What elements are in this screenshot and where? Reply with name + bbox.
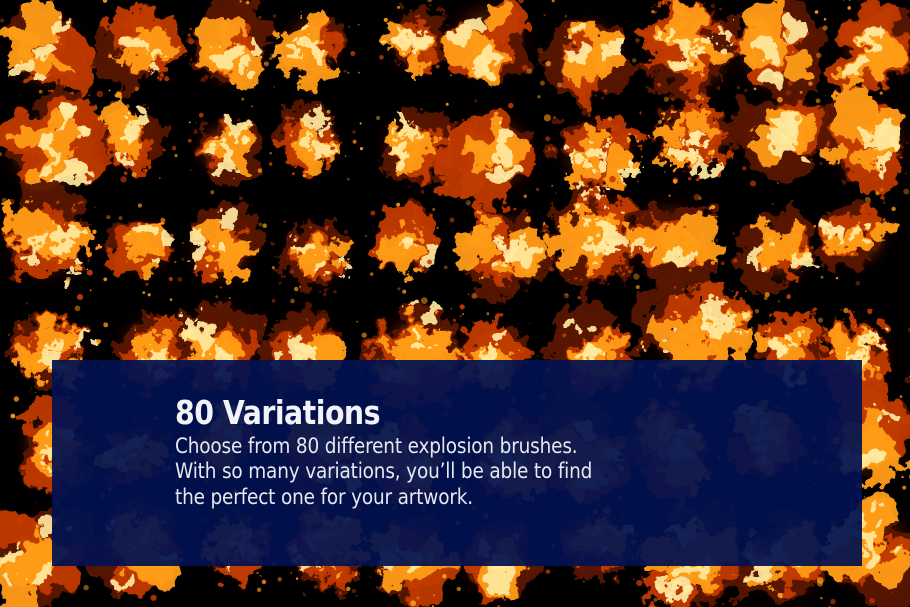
explosion-brush-stamp <box>87 191 198 302</box>
explosion-brush-stamp <box>78 0 201 106</box>
description-line: Choose from 80 different explosion brush… <box>175 434 780 460</box>
explosion-brush-stamp <box>714 184 846 316</box>
explosion-brush-stamp <box>431 174 579 322</box>
explosion-brush-stamp <box>607 0 776 137</box>
explosion-brush-stamp <box>700 0 852 129</box>
panel-description: Choose from 80 different explosion brush… <box>175 434 780 511</box>
explosion-brush-stamp <box>350 85 474 209</box>
explosion-brush-stamp <box>168 91 283 206</box>
explosion-brush-stamp <box>260 197 378 315</box>
description-line: the perfect one for your artwork. <box>175 485 780 511</box>
explosion-brush-stamp <box>348 183 465 300</box>
explosion-brush-stamp <box>411 72 574 235</box>
explosion-brush-stamp <box>518 0 662 126</box>
panel-heading: 80 Variations <box>175 396 766 430</box>
explosion-brush-stamp <box>0 67 136 238</box>
promo-banner: 80 Variations Choose from 80 different e… <box>0 0 910 607</box>
explosion-brush-stamp <box>807 0 910 114</box>
explosion-brush-stamp <box>523 155 683 315</box>
explosion-brush-stamp <box>595 164 746 315</box>
explosion-brush-stamp <box>786 60 910 222</box>
explosion-brush-stamp <box>156 186 286 316</box>
explosion-brush-stamp <box>361 0 473 97</box>
explosion-brush-stamp <box>410 0 566 119</box>
description-line: With so many variations, you’ll be able … <box>175 459 780 485</box>
explosion-brush-stamp <box>0 168 118 318</box>
explosion-brush-stamp <box>164 0 298 118</box>
info-panel: 80 Variations Choose from 80 different e… <box>52 360 862 566</box>
explosion-brush-stamp <box>0 0 123 127</box>
explosion-brush-stamp <box>627 73 762 208</box>
explosion-brush-stamp <box>798 177 910 298</box>
explosion-brush-stamp <box>711 63 855 207</box>
explosion-brush-stamp <box>252 0 372 105</box>
explosion-brush-stamp <box>525 82 671 228</box>
explosion-brush-stamp <box>69 82 185 198</box>
explosion-brush-stamp <box>255 89 366 200</box>
